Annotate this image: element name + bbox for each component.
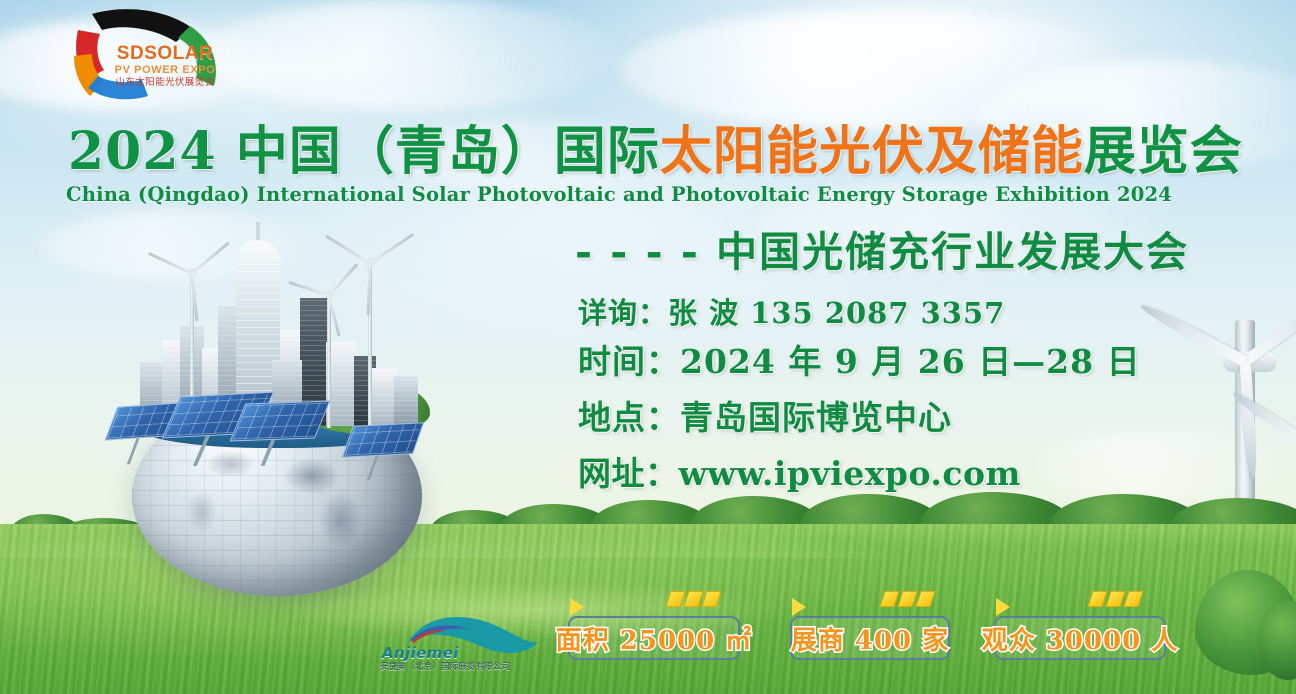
- info-contact: 详询：张 波 135 2087 3357: [578, 292, 1278, 334]
- badge-label: 观众 30000 人: [982, 620, 1179, 657]
- title-cn-part1: 2024 中国（青岛）国际: [68, 121, 660, 182]
- title-cn-part2: 太阳能光伏及储能: [660, 121, 1084, 182]
- logo-chinese: 山东太阳能光伏展览会: [106, 77, 224, 89]
- arrow-icon: [792, 598, 806, 616]
- info-time: 时间：2024 年 9 月 26 日—28 日: [578, 334, 1278, 390]
- logo-tagline: PV POWER EXPO: [106, 63, 224, 77]
- solar-panel-icon: [668, 591, 719, 607]
- badge-label: 展商 400 家: [791, 620, 949, 657]
- wind-turbine-graphic: [338, 242, 402, 432]
- solar-panel-icon: [1090, 591, 1141, 607]
- badge-visitors: 观众 30000 人: [994, 616, 1166, 660]
- globe-city-illustration: [110, 236, 440, 606]
- cloud-icon: [200, 0, 620, 110]
- arrow-icon: [570, 598, 584, 616]
- info-website[interactable]: 网址：www.ipviexpo.com: [578, 446, 1278, 502]
- badge-exhibitors: 展商 400 家: [790, 616, 950, 660]
- info-place: 地点：青岛国际博览中心: [578, 390, 1278, 446]
- bottom-logo-chinese: 安捷美（北京）国际展览有限公司: [380, 660, 511, 672]
- logo-brand: SDSOLAR: [106, 44, 224, 63]
- badge-area: 面积 25000 ㎡: [568, 616, 740, 660]
- sdsolar-logo[interactable]: SDSOLAR PV POWER EXPO 山东太阳能光伏展览会: [72, 8, 222, 100]
- solar-panel-graphic: [230, 401, 331, 442]
- solar-panel-icon: [882, 591, 933, 607]
- info-block: 详询：张 波 135 2087 3357 时间：2024 年 9 月 26 日—…: [578, 292, 1278, 502]
- title-cn-part3: 展览会: [1084, 121, 1243, 182]
- badge-label: 面积 25000 ㎡: [556, 620, 753, 657]
- page-title: 2024 中国（青岛）国际太阳能光伏及储能展览会: [68, 124, 1258, 180]
- anjiemei-logo[interactable]: Anjiemei 安捷美（北京）国际展览有限公司: [378, 612, 543, 678]
- title-subtitle: - - - - 中国光储充行业发展大会: [575, 228, 1275, 276]
- solar-panel-graphic: [342, 422, 425, 458]
- title-english: China (Qingdao) International Solar Phot…: [66, 183, 1266, 206]
- promotional-banner: SDSOLAR PV POWER EXPO 山东太阳能光伏展览会 2024 中国…: [0, 0, 1296, 694]
- arrow-icon: [996, 598, 1010, 616]
